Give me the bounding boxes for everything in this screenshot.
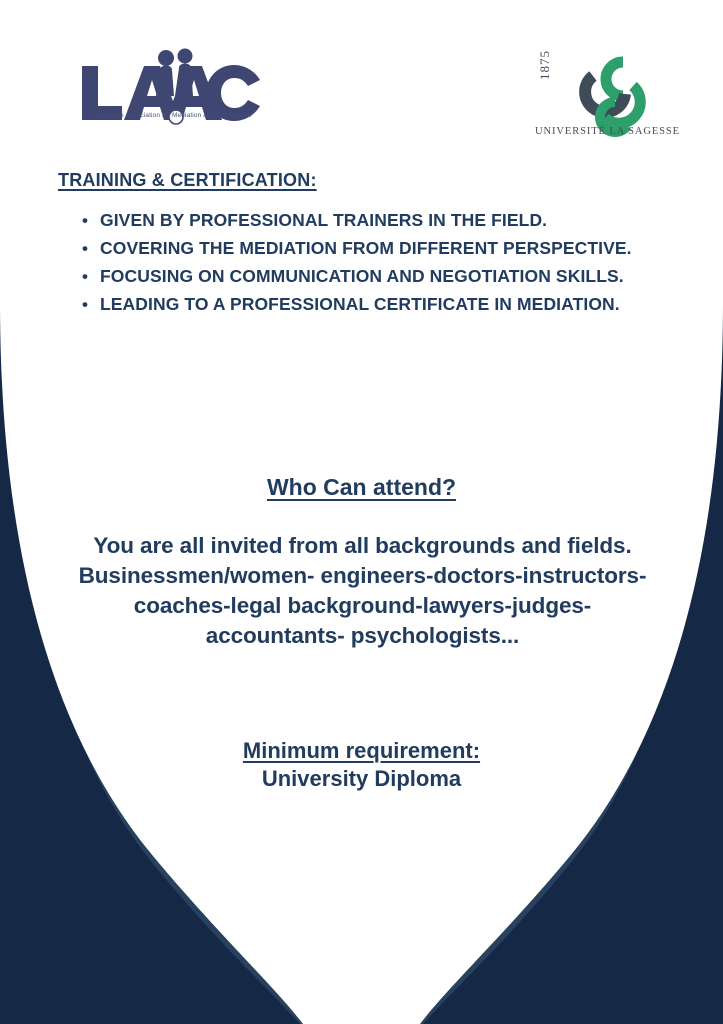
poster-content: Lebanese Association for Mediation and C… [0, 0, 723, 1024]
lamac-tagline: Lebanese Association for Mediation and C… [78, 112, 268, 119]
attend-heading: Who Can attend? [0, 474, 723, 501]
poster: Lebanese Association for Mediation and C… [0, 0, 723, 1024]
logo-row: Lebanese Association for Mediation and C… [0, 0, 723, 150]
training-bullet-item: COVERING THE MEDIATION FROM DIFFERENT PE… [100, 235, 700, 262]
svg-text:1875: 1875 [537, 50, 552, 80]
requirement-value: University Diploma [0, 766, 723, 792]
requirement-heading: Minimum requirement: [0, 738, 723, 764]
training-bullet-item: GIVEN BY PROFESSIONAL TRAINERS IN THE FI… [100, 207, 700, 234]
universite-la-sagesse-caption: UNIVERSITÉ LA SAGESSE [520, 126, 695, 137]
training-bullet-item: LEADING TO A PROFESSIONAL CERTIFICATE IN… [100, 291, 700, 318]
lamac-logo [78, 44, 264, 136]
training-bullet-item: FOCUSING ON COMMUNICATION AND NEGOTIATIO… [100, 263, 700, 290]
training-bullet-list: GIVEN BY PROFESSIONAL TRAINERS IN THE FI… [78, 207, 700, 319]
attend-body: You are all invited from all backgrounds… [70, 531, 655, 651]
training-heading: TRAINING & CERTIFICATION: [58, 170, 317, 191]
